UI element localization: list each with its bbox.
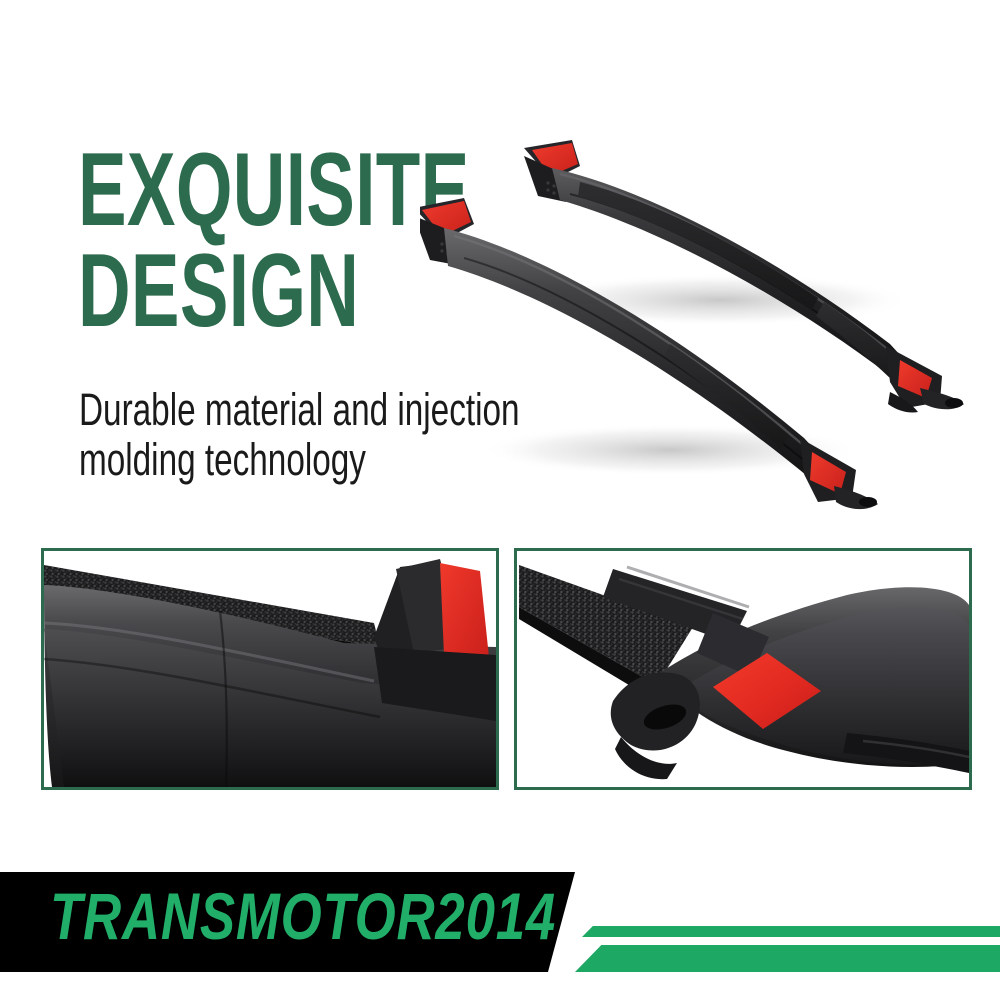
subtitle-line-2: molding technology xyxy=(79,435,427,485)
brand-wordmark: TRANSMOTOR2014 xyxy=(50,881,556,951)
seal-strip-upper xyxy=(524,140,964,413)
seal-end-bracket-closeup-illustration xyxy=(517,551,969,787)
brand-stripe-thick xyxy=(575,945,1000,972)
subtitle-line-1: Durable material and injection xyxy=(79,385,427,435)
detail-panel-end-bracket xyxy=(514,548,972,790)
hero-product-photo xyxy=(420,120,1000,520)
brand-bar: TRANSMOTOR2014 xyxy=(0,866,1000,978)
detail-panel-seal-profile xyxy=(41,548,499,790)
hero-product-illustration xyxy=(420,120,1000,520)
headline-line-2: DESIGN xyxy=(78,243,379,340)
headline-line-1: EXQUISITE xyxy=(78,142,379,239)
brand-stripe-thin xyxy=(582,926,1000,937)
seal-profile-closeup-illustration xyxy=(44,551,496,787)
